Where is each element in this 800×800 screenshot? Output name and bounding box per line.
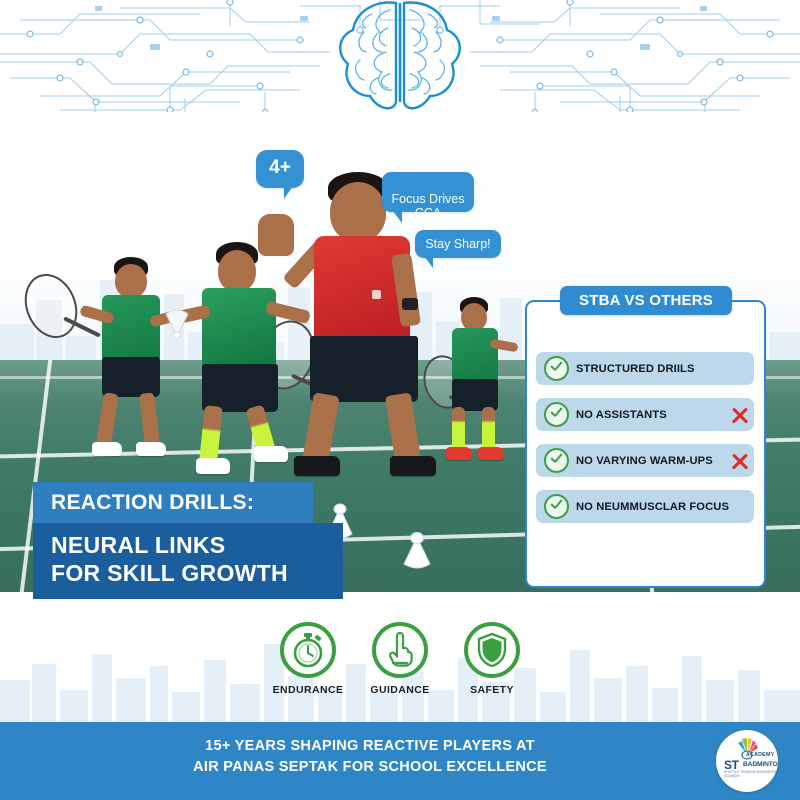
cross-icon [730,405,750,425]
bubble-tail [424,256,433,268]
comparison-row-label: NO VARYING WARM-UPS [576,455,713,467]
feature-guidance: GUIDANCE [348,622,452,696]
bubble-tail [392,210,402,223]
count-bubble-text: 4+ [269,157,291,178]
shorts [310,336,418,402]
logo-academy-text: ACADEMY [746,752,774,758]
bubble-tail [284,186,293,199]
leg [199,405,223,463]
leg [302,392,339,463]
logo-badminton-text: BADMINTON [743,761,778,768]
shoe [196,458,230,474]
leg [139,392,160,445]
check-icon [544,494,569,519]
head [461,303,487,331]
shoe [390,456,436,476]
torso [102,295,160,361]
banner-eyebrow: REACTION DRILLS: [33,482,313,523]
banner-headline: NEURAL LINKS FOR SKILL GROWTH [33,523,343,599]
shoe [92,442,122,456]
comparison-row-label: NO ASSISTANTS [576,409,667,421]
feature-strip: ENDURANCE GUIDANCE SAFETY [0,592,800,722]
logo-inner: ACADEMY ST BADMINTON SHUTTLE TRAINING BA… [716,730,778,792]
watch-icon [402,298,418,310]
feature-safety: SAFETY [440,622,544,696]
shuttlecock-icon [398,528,436,572]
leg [452,407,465,451]
poster-canvas: 4+ Focus Drives CCA Success Stay Sharp! … [0,0,800,800]
head [330,182,386,242]
footer-line-1: 15+ YEARS SHAPING REACTIVE PLAYERS AT [0,736,740,757]
shorts [202,364,278,412]
banner-headline-line1: NEURAL LINKS [51,531,325,559]
torso [452,328,498,382]
leg [482,407,495,451]
logo-subtitle-text: SHUTTLE TRAINING BADMINTON ACADEMY [724,770,778,778]
banner-headline-line2: FOR SKILL GROWTH [51,559,325,587]
focus-bubble: Focus Drives CCA Success [382,172,474,212]
shoe [446,447,472,460]
shield-icon [464,622,520,678]
footer-line-2: AIR PANAS SEPTAK FOR SCHOOL EXCELLENCE [0,757,740,778]
shoe [254,446,288,462]
pointing-hand-icon [372,622,428,678]
feature-endurance: ENDURANCE [256,622,360,696]
cross-icon [730,451,750,471]
torso [202,288,276,370]
sharp-bubble: Stay Sharp! [415,230,501,258]
headline-banner: REACTION DRILLS: NEURAL LINKS FOR SKILL … [33,482,343,599]
leg [385,392,421,463]
feature-label: ENDURANCE [256,684,360,696]
check-icon [544,448,569,473]
comparison-panel-title: STBA VS OTHERS [560,286,732,315]
comparison-row[interactable]: NO NEUMMUSCLAR FOCUS [536,490,754,523]
sharp-bubble-text: Stay Sharp! [425,237,490,251]
comparison-row[interactable]: NO VARYING WARM-UPS [536,444,754,477]
header-circuit-banner [0,0,800,118]
head [115,264,147,298]
count-bubble: 4+ [256,150,304,188]
stopwatch-icon [280,622,336,678]
shoe [136,442,166,456]
shoe [294,456,340,476]
comparison-row[interactable]: STRUCTURED DRIILS [536,352,754,385]
footer-bar: 15+ YEARS SHAPING REACTIVE PLAYERS AT AI… [0,722,800,800]
shirt-logo [372,290,381,299]
shorts [102,357,160,397]
comparison-row-label: STRUCTURED DRIILS [576,363,695,375]
brain-icon [340,3,460,109]
leg [96,392,119,446]
comparison-row[interactable]: NO ASSISTANTS [536,398,754,431]
shoe [478,447,504,460]
comparison-row-label: NO NEUMMUSCLAR FOCUS [576,501,729,513]
check-icon [544,402,569,427]
feature-label: SAFETY [440,684,544,696]
brand-logo[interactable]: ACADEMY ST BADMINTON SHUTTLE TRAINING BA… [716,730,778,792]
feature-label: GUIDANCE [348,684,452,696]
check-icon [544,356,569,381]
footer-text: 15+ YEARS SHAPING REACTIVE PLAYERS AT AI… [0,736,740,778]
raised-hand [258,214,294,256]
circuit-board-graphic [0,0,800,118]
head [218,250,256,292]
shuttlecock-icon [162,304,192,338]
